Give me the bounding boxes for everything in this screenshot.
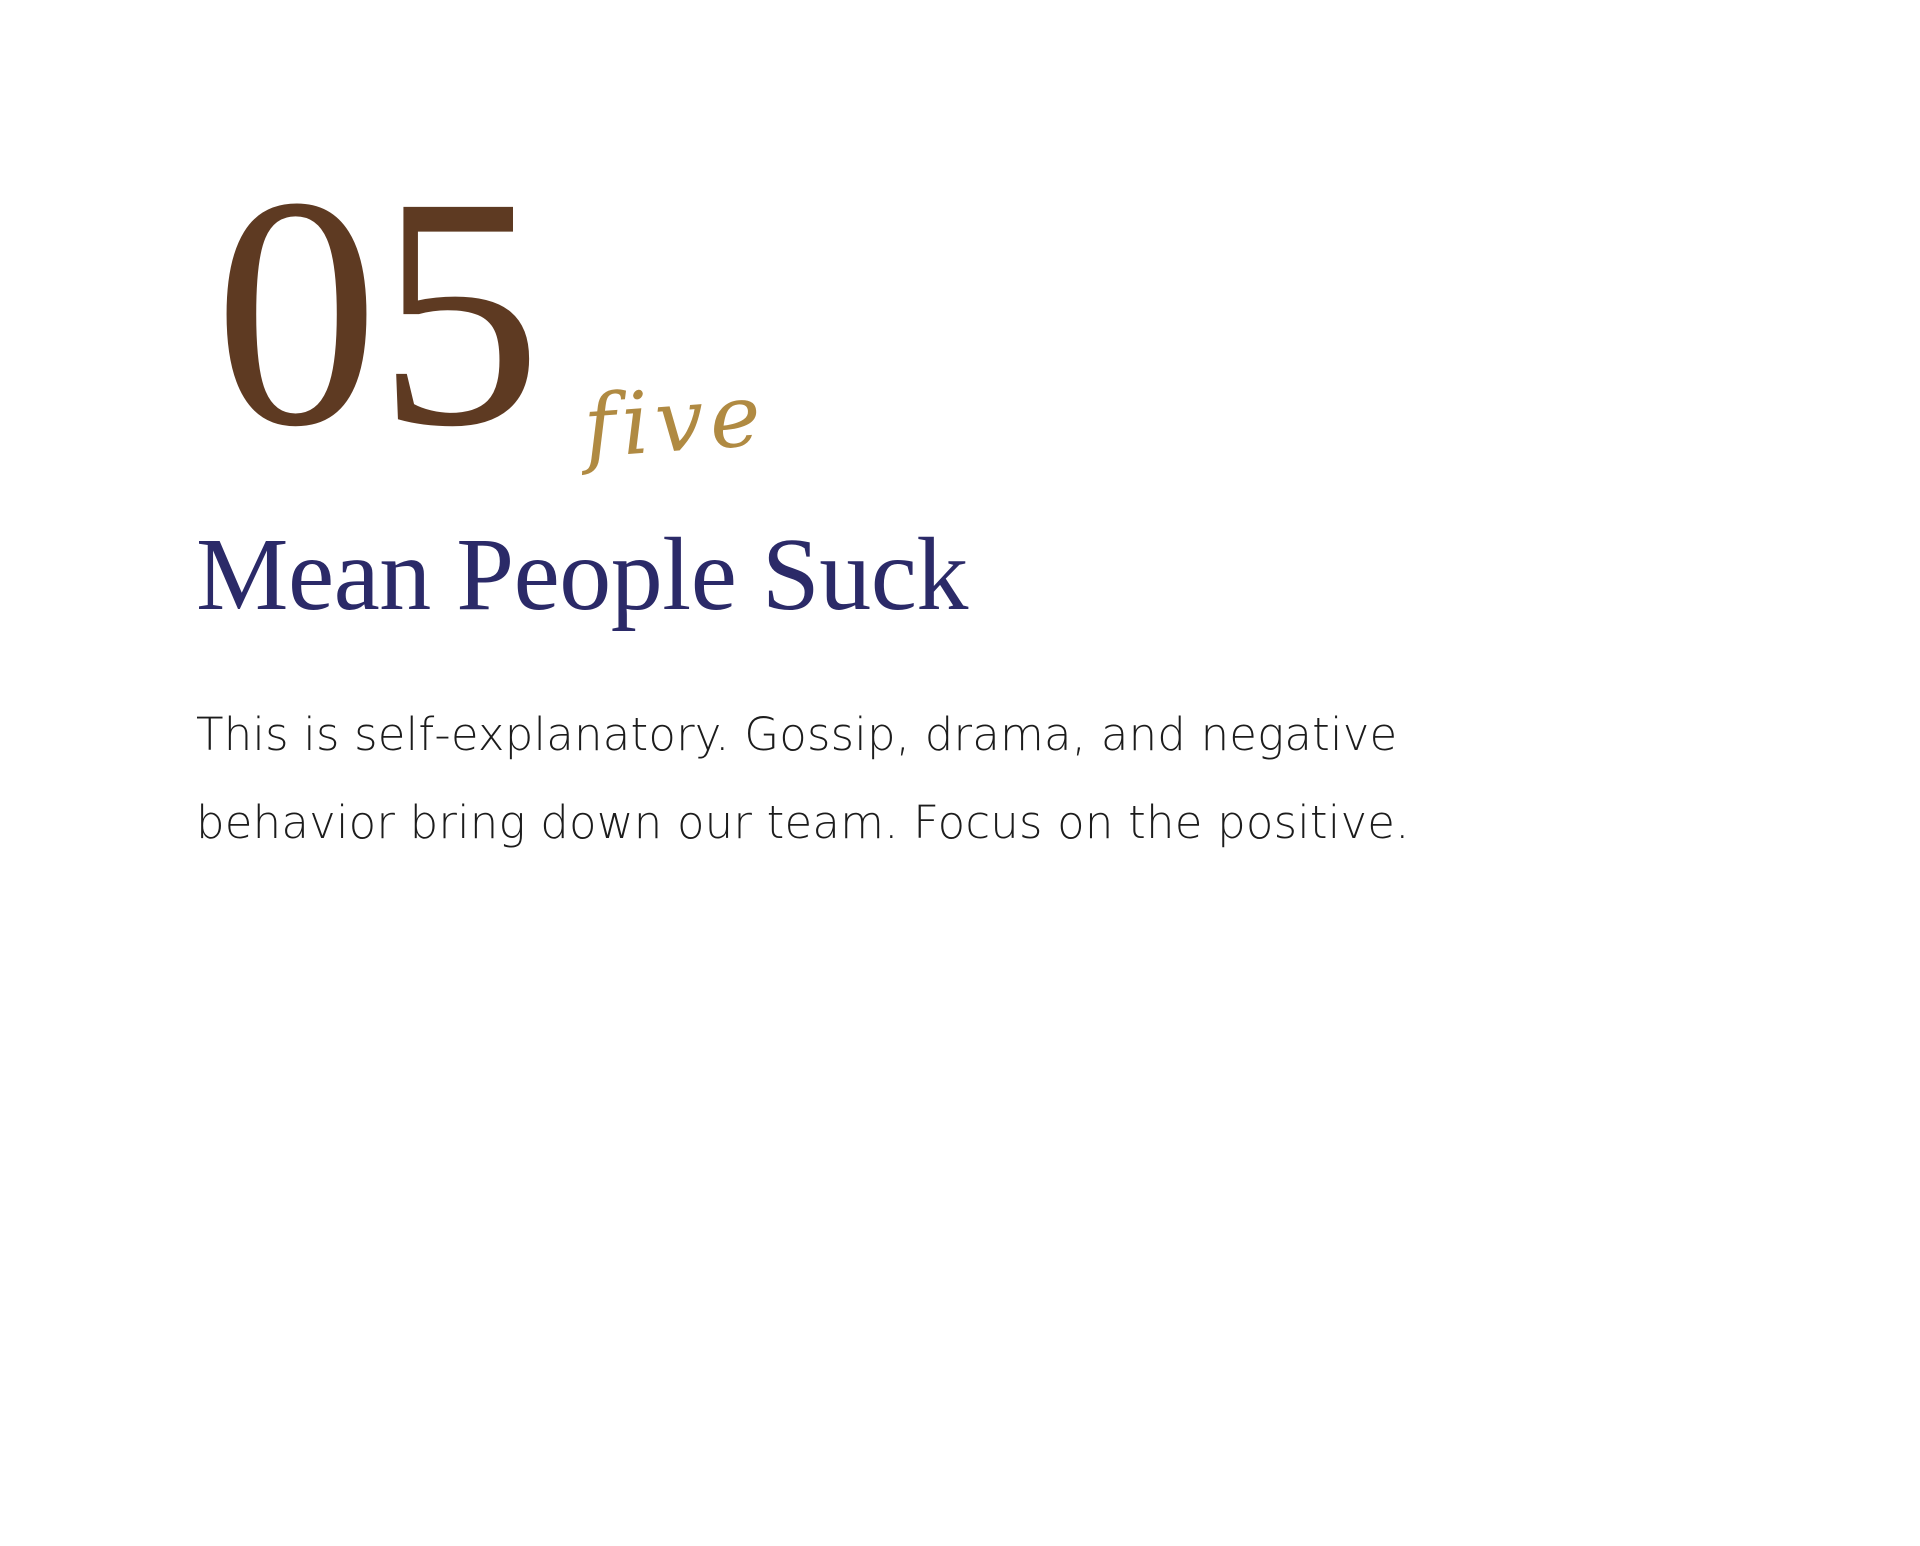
body-paragraph: This is self-explanatory. Gossip, drama,… xyxy=(196,691,1446,867)
page-title: Mean People Suck xyxy=(196,520,1756,629)
body-line-1: This is self-explanatory. Gossip, drama,… xyxy=(196,691,1446,779)
content-block: 05 five Mean People Suck This is self-ex… xyxy=(196,190,1756,867)
slide-number-word: five xyxy=(581,372,769,471)
number-lockup: 05 five xyxy=(196,190,1756,520)
slide-number: 05 xyxy=(214,148,540,478)
slide-canvas: 05 five Mean People Suck This is self-ex… xyxy=(0,0,1920,1546)
body-line-2: behavior bring down our team. Focus on t… xyxy=(196,779,1446,867)
